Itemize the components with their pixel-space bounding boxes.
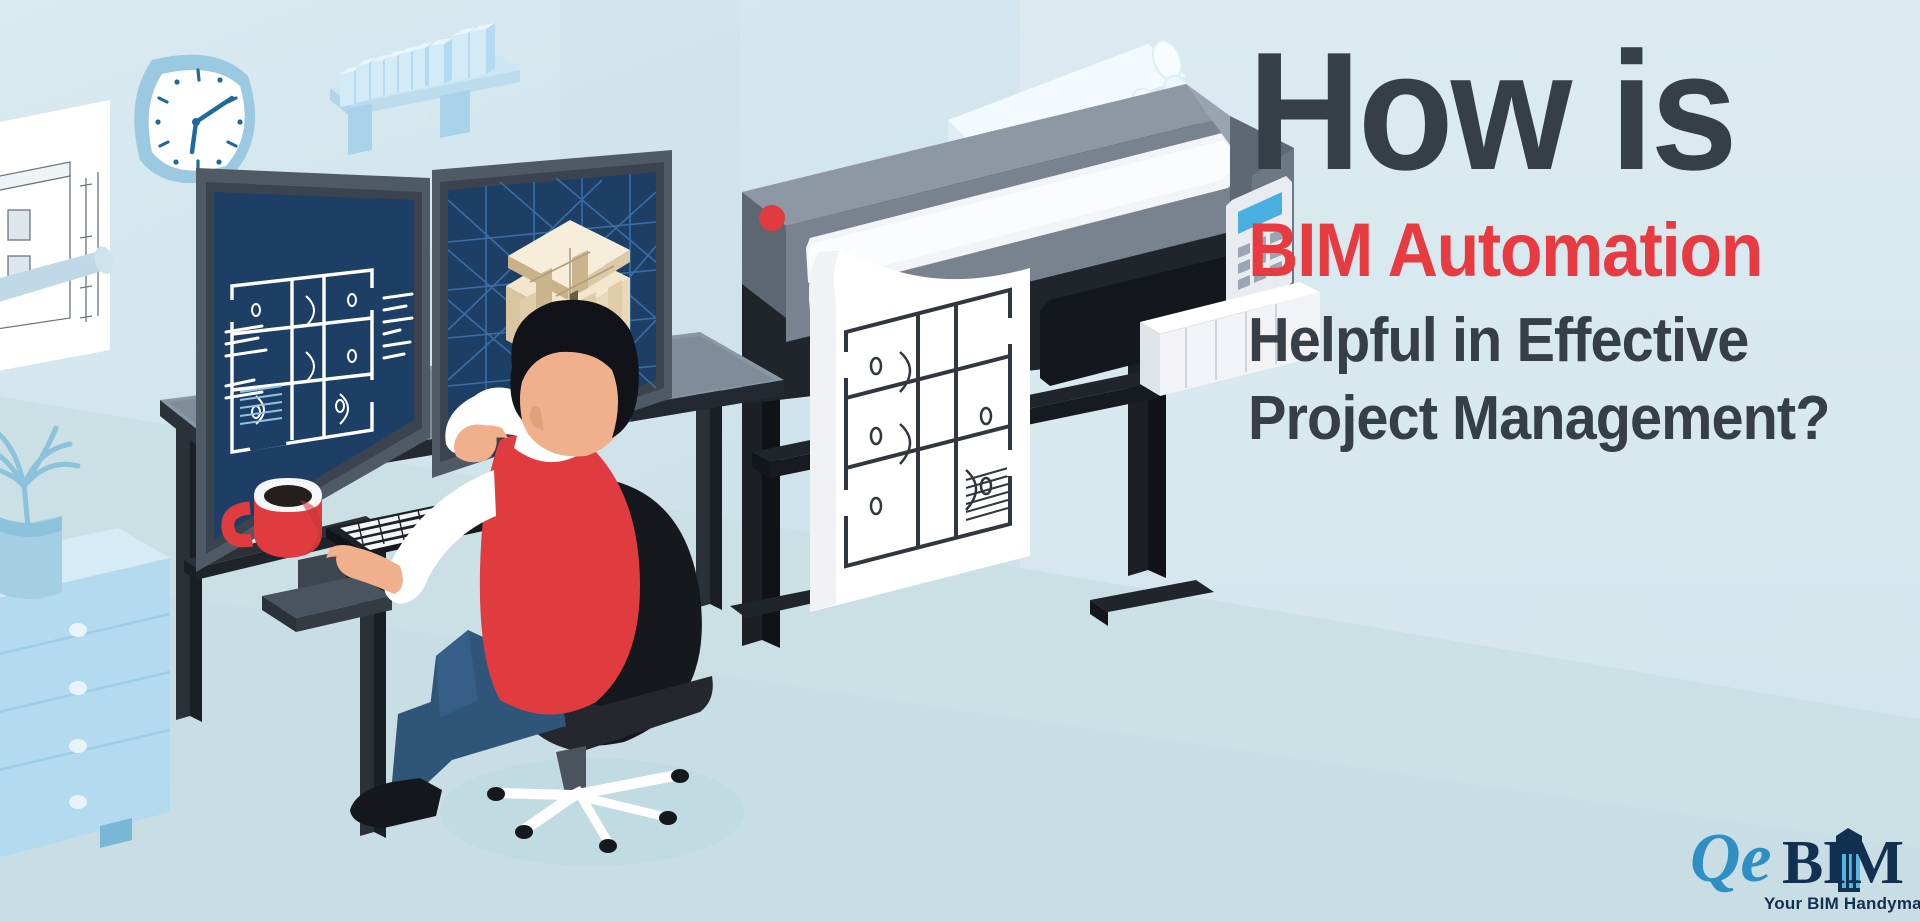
headline-line-3: Helpful in Effective <box>1248 304 1873 377</box>
headline-block: How is BIM Automation Helpful in Effecti… <box>1248 34 1920 455</box>
headline-line-1: How is <box>1248 34 1873 189</box>
plotter-output-paper-icon <box>809 248 1030 612</box>
person-vest <box>480 431 640 714</box>
headline-line-2-accent: BIM Automation <box>1248 211 1866 291</box>
logo-mark-prefix: Qe <box>1690 824 1772 894</box>
banner-root: How is BIM Automation Helpful in Effecti… <box>0 0 1920 922</box>
elevation-poster-icon <box>0 100 110 378</box>
isometric-workstation-illustration <box>0 0 1250 922</box>
qebim-logo[interactable]: Qe BIM Your BIM Handyman <box>1686 820 1902 916</box>
logo-tagline: Your BIM Handyman <box>1764 894 1920 914</box>
bookshelf-icon <box>330 23 520 155</box>
headline-line-4: Project Management? <box>1248 382 1873 455</box>
wall-clock-icon <box>134 55 255 183</box>
logo-mark-suffix: BIM <box>1782 832 1903 894</box>
